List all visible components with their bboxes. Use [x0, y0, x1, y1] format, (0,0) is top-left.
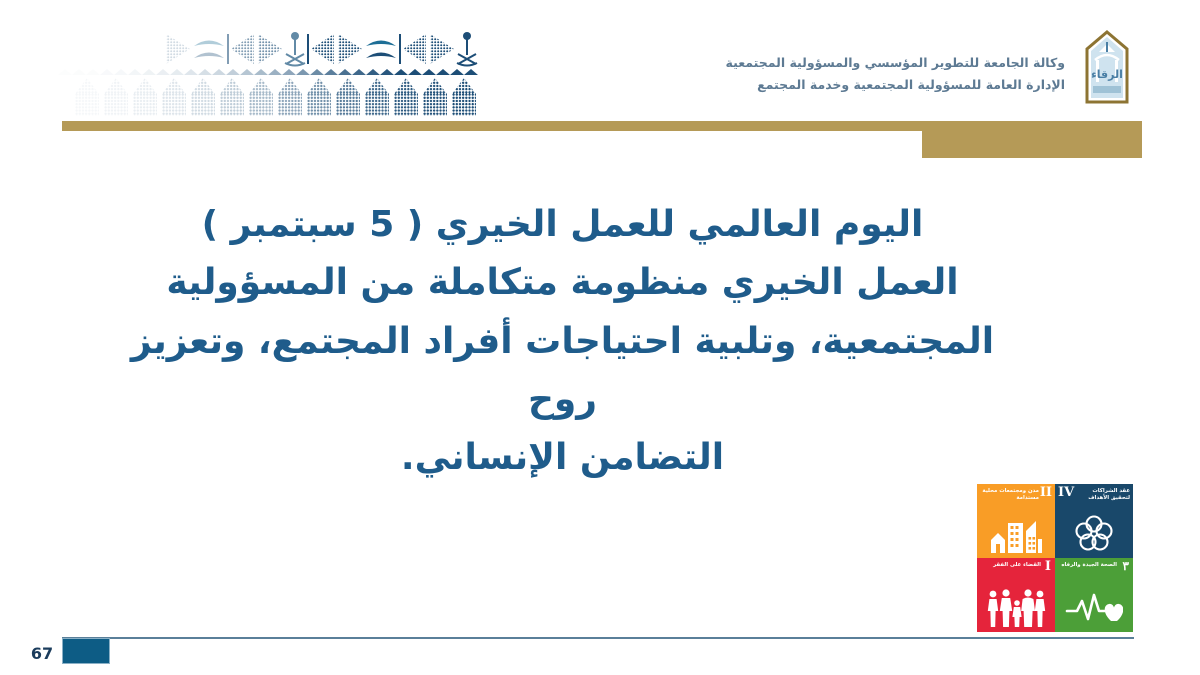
body-line-2: العمل الخيري منظومة متكاملة من المسؤولية [110, 254, 1015, 312]
motif-row [58, 28, 478, 70]
sdg-goal-17-label: عقد الشراكات لتحقيق الأهداف [1075, 488, 1130, 502]
mosque-icon [131, 78, 159, 116]
mosque-icon [73, 78, 101, 116]
sdg-goals-grid: IV عقد الشراكات لتحقيق الأهداف II مدن وم… [977, 484, 1133, 632]
triangle-dot-divider [58, 68, 478, 75]
mosque-icon [334, 78, 362, 116]
mosque-icon [450, 78, 478, 116]
body-line-1: اليوم العالمي للعمل الخيري ( 5 سبتمبر ) [110, 196, 1015, 254]
palm-fronds-icon [364, 29, 398, 69]
heartbeat-icon [1055, 585, 1133, 629]
triangle-left-icon [398, 29, 428, 69]
sdg-goal-17-number: IV [1058, 486, 1074, 499]
mosque-icon [160, 78, 188, 116]
gold-accent-block [922, 121, 1142, 158]
sdg-goal-11-number: II [1040, 486, 1052, 499]
mosque-icon [392, 78, 420, 116]
triangle-right-icon [336, 29, 364, 69]
mosque-icon [102, 78, 130, 116]
triangle-left-icon [226, 29, 256, 69]
triangle-right-icon [256, 29, 284, 69]
university-emblem-icon: الرقاء [1084, 30, 1130, 106]
sdg-goal-1: I القضاء على الفقر [977, 558, 1055, 632]
sdg-goal-3: ٣ الصحة الجيدة والرفاه [1055, 558, 1133, 632]
triangle-right-icon [164, 29, 192, 69]
slide-body-text: اليوم العالمي للعمل الخيري ( 5 سبتمبر ) … [110, 196, 1015, 488]
family-group-icon [977, 585, 1055, 629]
org-line-1: وكالة الجامعة للتطوير المؤسسي والمسؤولية… [735, 52, 1065, 74]
triangle-left-icon [306, 29, 336, 69]
sustainable-city-icon [977, 511, 1055, 555]
mosque-icon [363, 78, 391, 116]
footer-accent-box [62, 638, 110, 664]
organization-title: وكالة الجامعة للتطوير المؤسسي والمسؤولية… [735, 52, 1065, 96]
mosque-silhouette-row [58, 76, 478, 116]
sdg-goal-1-label: القضاء على الفقر [981, 562, 1041, 569]
mosque-icon [247, 78, 275, 116]
org-line-2: الإدارة العامة للمسؤولية المجتمعية وخدمة… [735, 74, 1065, 96]
body-line-4: التضامن الإنساني. [110, 429, 1015, 487]
mosque-icon [305, 78, 333, 116]
triangle-right-icon [428, 29, 456, 69]
mosque-icon [189, 78, 217, 116]
sdg-goal-11: II مدن ومجتمعات محلية مستدامة [977, 484, 1055, 558]
body-line-3: المجتمعية، وتلبية احتياجات أفراد المجتمع… [110, 313, 1015, 430]
palm-swords-emblem-icon [456, 29, 478, 69]
slide-canvas: وكالة الجامعة للتطوير المؤسسي والمسؤولية… [0, 0, 1200, 675]
sdg-goal-3-number: ٣ [1123, 560, 1129, 572]
mosque-icon [218, 78, 246, 116]
palm-swords-emblem-icon [284, 29, 306, 69]
sdg-goal-11-label: مدن ومجتمعات محلية مستدامة [981, 488, 1039, 502]
page-number: 67 [26, 644, 58, 663]
palm-fronds-icon [192, 29, 226, 69]
mosque-icon [276, 78, 304, 116]
mosque-icon [421, 78, 449, 116]
svg-text:الرقاء: الرقاء [1091, 68, 1123, 81]
footer-divider-line [62, 637, 1134, 639]
sdg-goal-17: IV عقد الشراكات لتحقيق الأهداف [1055, 484, 1133, 558]
saudi-heritage-pattern [58, 28, 478, 116]
sdg-goal-1-number: I [1045, 560, 1051, 573]
partnership-rings-icon [1055, 511, 1133, 555]
sdg-goal-3-label: الصحة الجيدة والرفاه [1059, 562, 1117, 569]
